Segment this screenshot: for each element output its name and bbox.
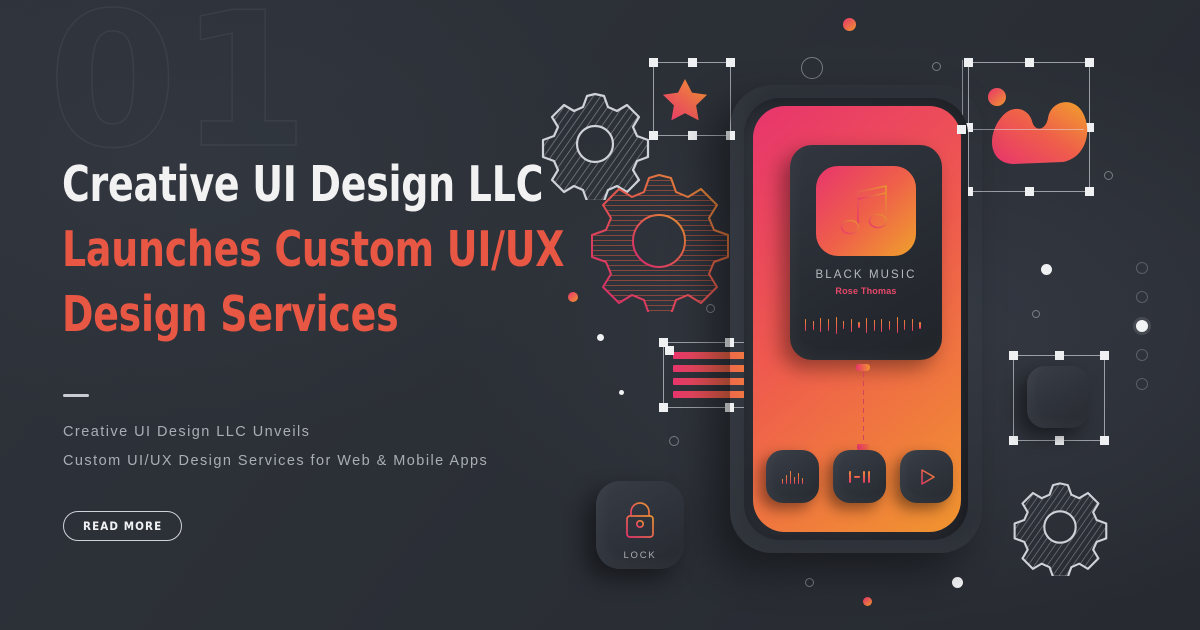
waveform-bar xyxy=(858,322,859,328)
watermark-number: 01 xyxy=(48,0,311,174)
pause-icon xyxy=(849,471,871,483)
decor-circle-outline xyxy=(1032,310,1040,318)
waveform-bar xyxy=(851,319,852,332)
decor-dot xyxy=(952,577,963,588)
lock-icon xyxy=(623,500,657,540)
equalizer-bar xyxy=(790,471,792,484)
equalizer-bar xyxy=(786,475,788,484)
pagination-dot-1[interactable] xyxy=(1136,262,1148,274)
decor-dot xyxy=(1041,264,1052,275)
crescent-moon-icon xyxy=(1046,384,1072,410)
headline-line-1: Creative UI Design LLC xyxy=(62,152,544,217)
play-button[interactable] xyxy=(900,450,953,503)
equalizer-button[interactable] xyxy=(766,450,819,503)
waveform-bar xyxy=(874,320,875,331)
equalizer-bar xyxy=(798,473,800,484)
play-icon xyxy=(917,467,937,487)
equalizer-bar xyxy=(794,477,796,484)
connector-dashed-line xyxy=(863,372,865,444)
gear-icon xyxy=(1012,478,1108,576)
decor-dot xyxy=(597,334,604,341)
headline-line-3: Design Services xyxy=(62,282,544,347)
music-note-icon xyxy=(834,182,898,242)
slide-canvas: 01 Creative UI Design LLC Launches Custo… xyxy=(0,0,1200,630)
gear-icon xyxy=(588,170,730,312)
waveform xyxy=(805,310,927,340)
waveform-bar xyxy=(805,319,806,331)
subtitle-block: Creative UI Design LLC Unveils Custom UI… xyxy=(63,418,488,476)
decor-circle-outline xyxy=(801,57,823,79)
decor-dot xyxy=(619,390,624,395)
decor-dot xyxy=(863,597,872,606)
waveform-bar xyxy=(881,319,882,332)
page-title: Creative UI Design LLC Launches Custom U… xyxy=(62,152,544,347)
star-icon xyxy=(662,78,708,122)
track-title: BLACK MUSIC xyxy=(790,269,942,281)
waveform-bar xyxy=(828,319,829,331)
subtitle-line-2: Custom UI/UX Design Services for Web & M… xyxy=(63,447,488,476)
selection-handle[interactable] xyxy=(957,125,966,134)
waveform-bar xyxy=(904,320,905,330)
decor-dot xyxy=(843,18,856,31)
headline-block: Creative UI Design LLC Launches Custom U… xyxy=(62,152,622,347)
subtitle-line-1: Creative UI Design LLC Unveils xyxy=(63,418,488,447)
headline-line-2: Launches Custom UI/UX xyxy=(62,217,544,282)
equalizer-bar xyxy=(782,479,784,484)
decor-dot xyxy=(568,292,578,302)
title-divider xyxy=(63,394,89,397)
waveform-bar xyxy=(836,317,837,334)
pagination-dot-3[interactable] xyxy=(1136,320,1148,332)
selection-handle[interactable] xyxy=(665,346,674,355)
waveform-bar xyxy=(820,318,821,332)
waveform-bar xyxy=(912,319,913,331)
read-more-button[interactable]: READ MORE xyxy=(63,511,182,541)
decor-circle-outline xyxy=(932,62,941,71)
decor-circle-outline xyxy=(1104,171,1113,180)
waveform-bar xyxy=(889,321,890,330)
waveform-bar xyxy=(813,321,814,330)
waveform-bar xyxy=(897,317,898,333)
pagination-dot-5[interactable] xyxy=(1136,378,1148,390)
waveform-bar xyxy=(919,322,920,329)
pagination-dots xyxy=(1136,262,1148,407)
decor-circle-outline xyxy=(805,578,814,587)
progress-marker xyxy=(856,364,870,371)
decor-circle-outline xyxy=(669,436,679,446)
waveform-bar xyxy=(866,318,867,333)
pause-button[interactable] xyxy=(833,450,886,503)
lock-label: LOCK xyxy=(596,550,684,561)
track-artist: Rose Thomas xyxy=(790,286,942,296)
equalizer-bar xyxy=(802,478,804,484)
equalizer-icon xyxy=(782,469,804,484)
waveform-bar xyxy=(843,321,844,329)
pagination-dot-4[interactable] xyxy=(1136,349,1148,361)
pagination-dot-2[interactable] xyxy=(1136,291,1148,303)
